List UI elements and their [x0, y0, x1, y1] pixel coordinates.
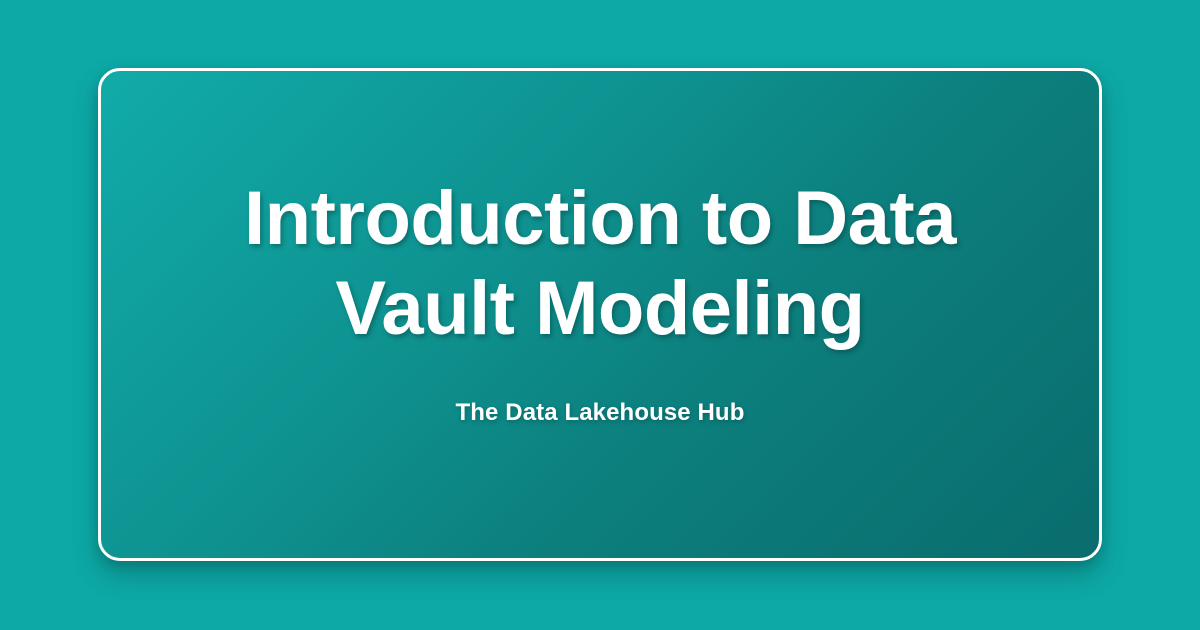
title-slide: Introduction to Data Vault Modeling The … [0, 0, 1200, 630]
hero-text-block: Introduction to Data Vault Modeling The … [157, 174, 1043, 428]
page-title: Introduction to Data Vault Modeling [160, 174, 1040, 354]
page-subtitle: The Data Lakehouse Hub [456, 398, 745, 428]
hero-card: Introduction to Data Vault Modeling The … [98, 68, 1102, 561]
